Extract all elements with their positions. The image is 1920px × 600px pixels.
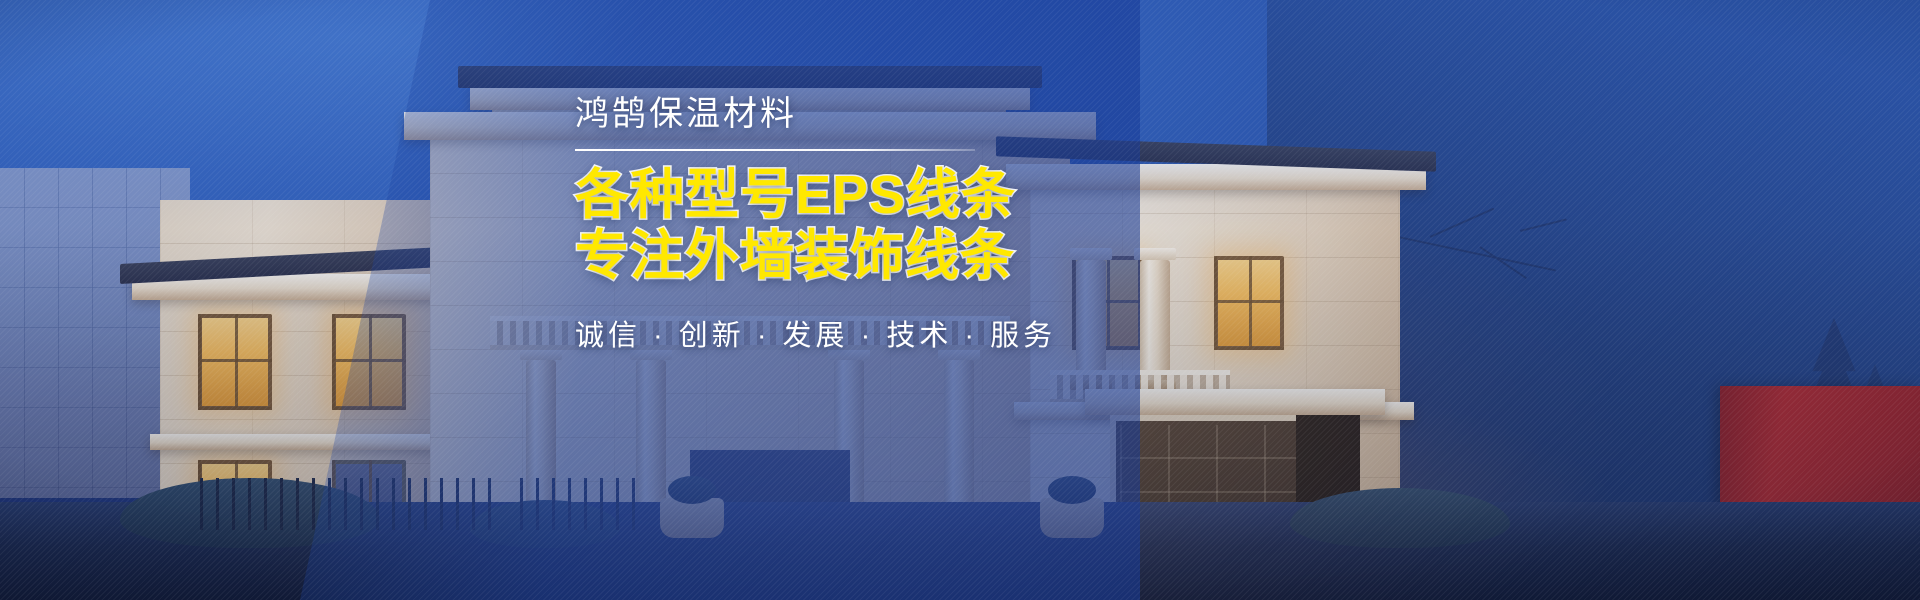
tagline: 诚信 · 创新 · 发展 · 技术 · 服务 [575, 312, 1135, 354]
promo-banner: 鸿鹄保温材料 各种型号EPS线条 专注外墙装饰线条 诚信 · 创新 · 发展 ·… [0, 0, 1920, 600]
divider-rule [575, 149, 975, 151]
headline-line-1: 各种型号EPS线条 [575, 165, 1135, 225]
banner-copy: 鸿鹄保温材料 各种型号EPS线条 专注外墙装饰线条 诚信 · 创新 · 发展 ·… [575, 96, 1135, 354]
brand-subtitle: 鸿鹄保温材料 [575, 96, 1135, 133]
headline-line-2: 专注外墙装饰线条 [575, 226, 1135, 286]
